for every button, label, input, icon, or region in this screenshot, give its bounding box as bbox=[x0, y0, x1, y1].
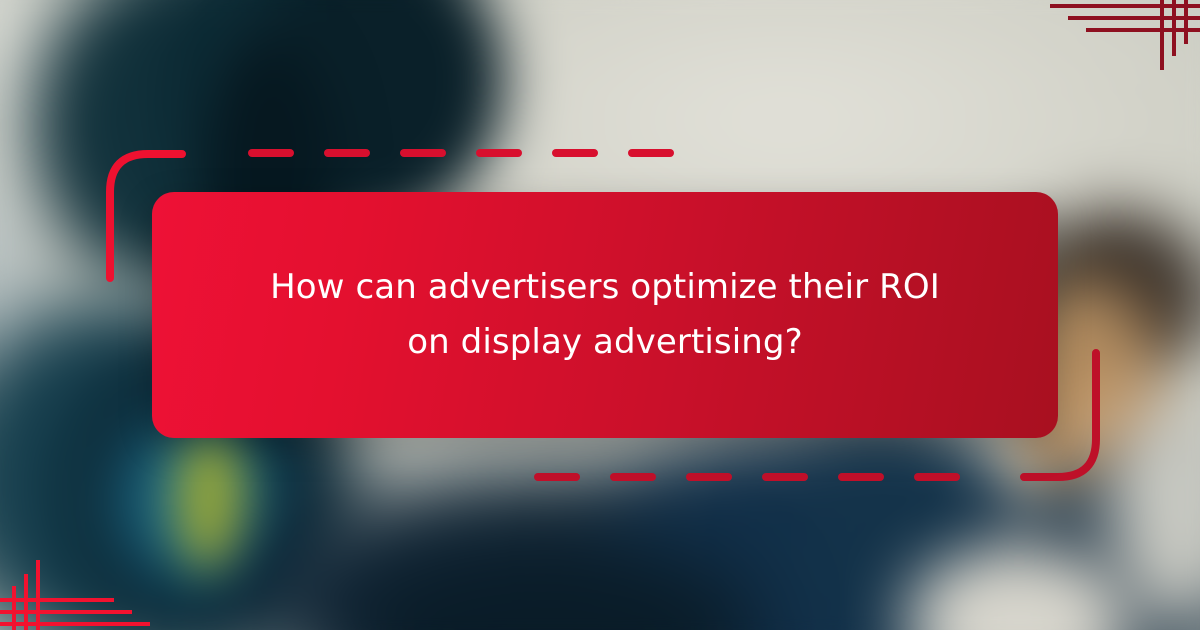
dash-segment bbox=[610, 473, 656, 481]
dash-segment bbox=[838, 473, 884, 481]
headline-text: How can advertisers optimize their ROI o… bbox=[225, 260, 985, 370]
dash-segment bbox=[914, 473, 960, 481]
dash-segment bbox=[534, 473, 580, 481]
dashed-rule-bottom bbox=[534, 473, 960, 481]
dash-segment bbox=[552, 149, 598, 157]
social-card-canvas: How can advertisers optimize their ROI o… bbox=[0, 0, 1200, 630]
dash-segment bbox=[248, 149, 294, 157]
dashed-rule-top bbox=[248, 149, 674, 157]
dash-segment bbox=[400, 149, 446, 157]
dash-segment bbox=[476, 149, 522, 157]
dash-segment bbox=[628, 149, 674, 157]
dash-segment bbox=[686, 473, 732, 481]
corner-ornament-bottom-left-icon bbox=[0, 550, 160, 630]
dash-segment bbox=[762, 473, 808, 481]
headline-card: How can advertisers optimize their ROI o… bbox=[152, 192, 1058, 438]
corner-ornament-top-right-icon bbox=[1040, 0, 1200, 80]
dash-segment bbox=[324, 149, 370, 157]
